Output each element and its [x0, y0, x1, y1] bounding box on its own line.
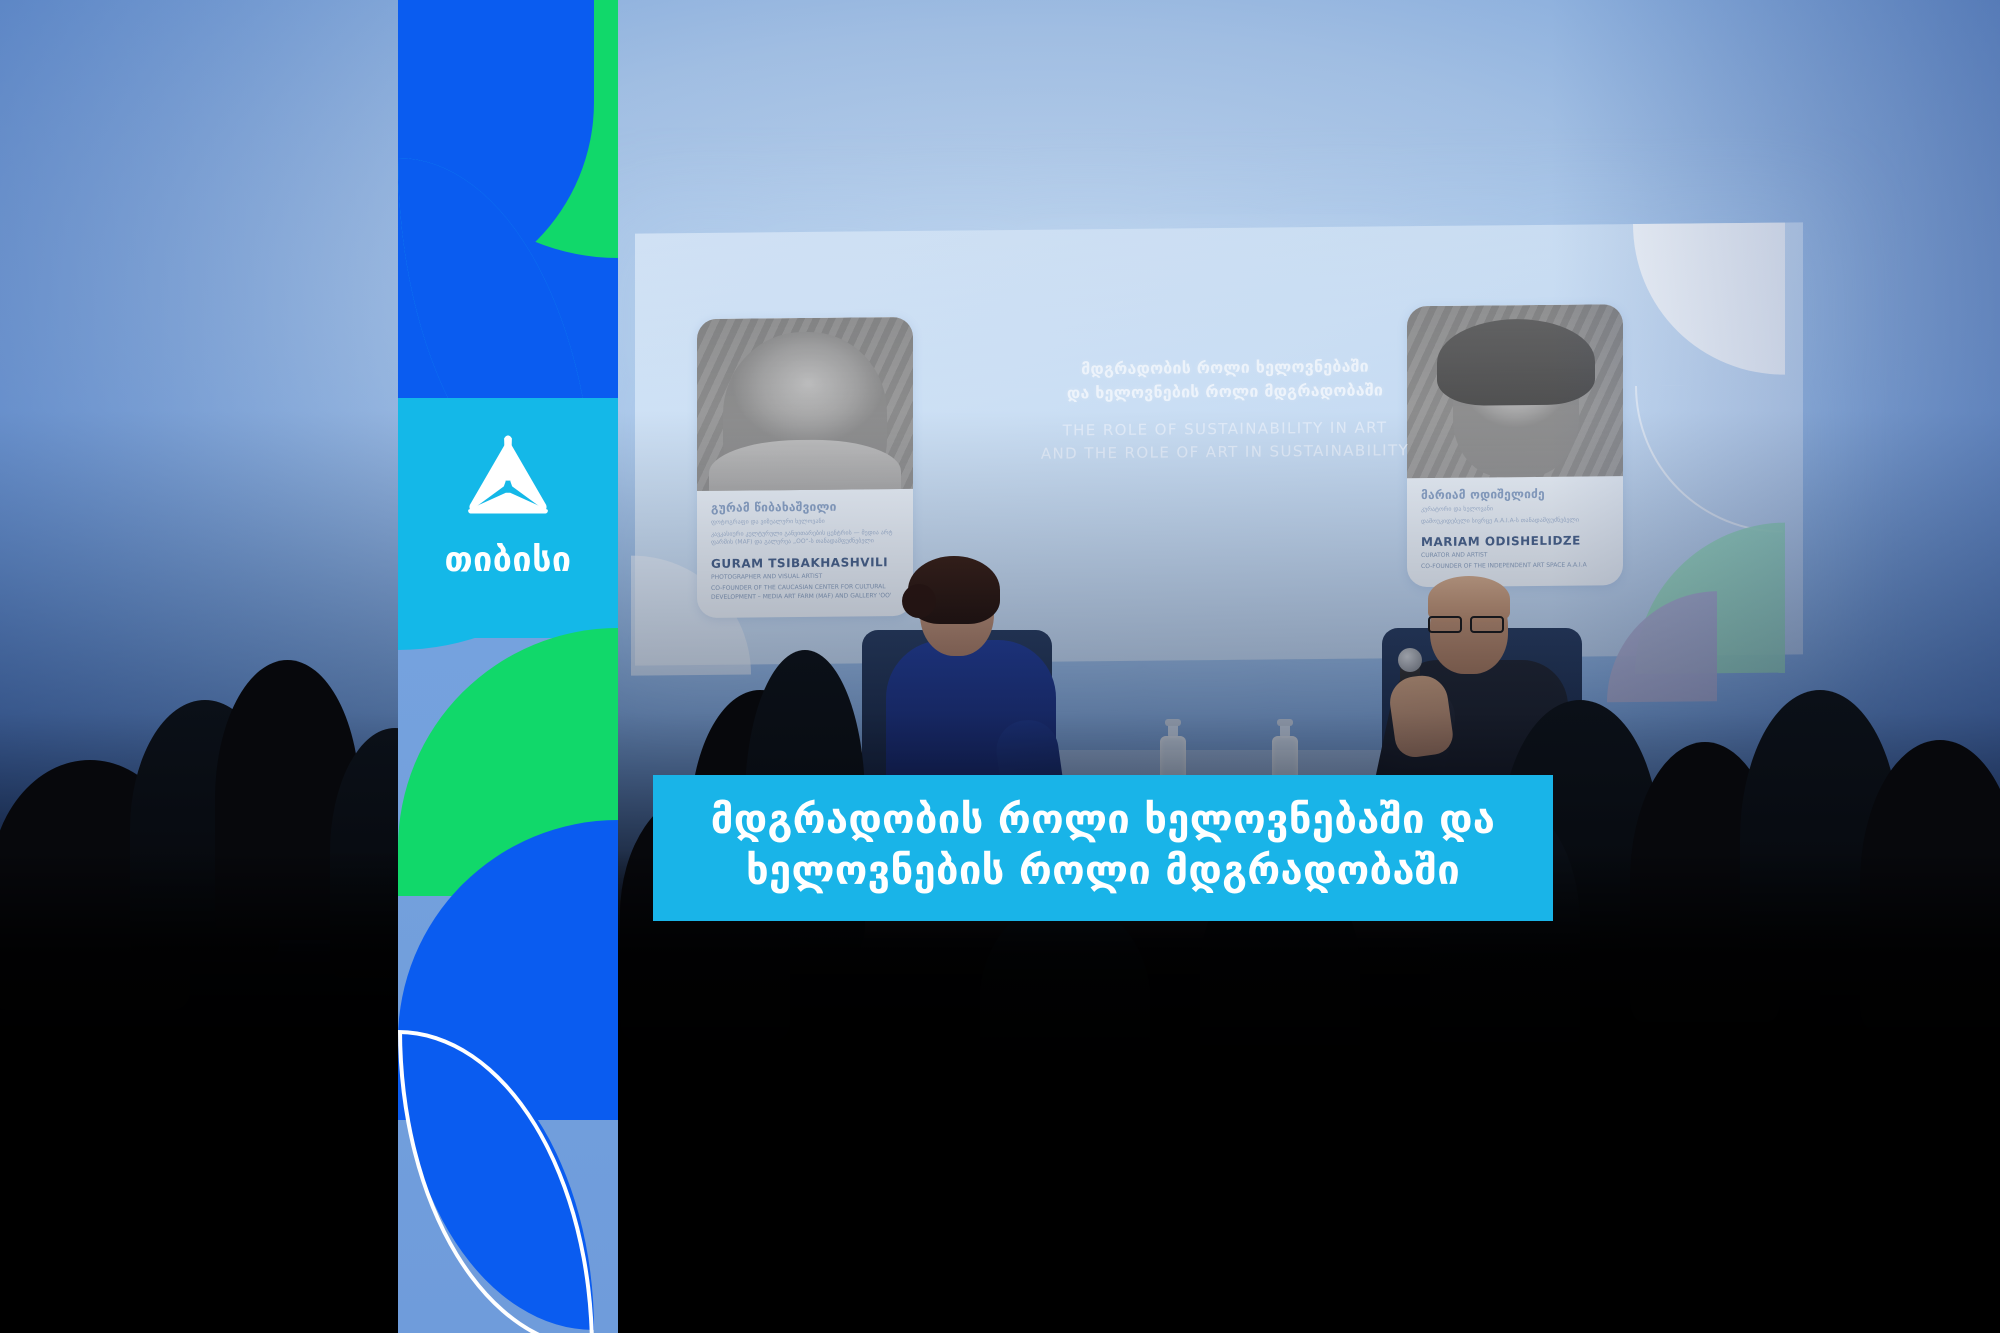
caption-line-2: ხელოვნების როლი მდგრადობაში — [679, 846, 1527, 897]
caption-banner: მდგრადობის როლი ხელოვნებაში და ხელოვნები… — [653, 775, 1553, 921]
brand-name-label: თიბისი — [398, 540, 618, 580]
tbc-trilobe-logo-icon — [456, 430, 560, 526]
poster-canvas: გურამ წიბახაშვილი ფოტოგრაფი და ვიზუალური… — [0, 0, 2000, 1333]
bottom-black-bar-right — [618, 1080, 2000, 1333]
brand-logo: თიბისი — [398, 430, 618, 580]
bottom-black-bar-left — [0, 1080, 398, 1333]
caption-line-1: მდგრადობის როლი ხელოვნებაში და — [679, 795, 1527, 846]
brand-column: თიბისი — [398, 0, 618, 1333]
